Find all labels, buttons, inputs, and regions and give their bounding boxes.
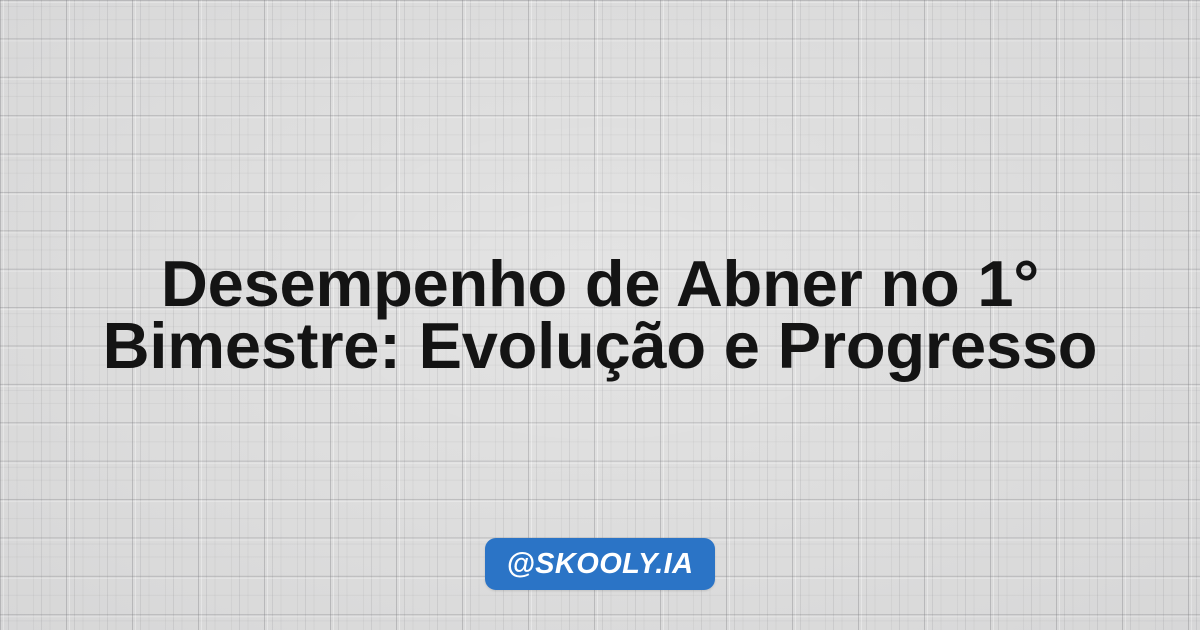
page-title: Desempenho de Abner no 1° Bimestre: Evol… xyxy=(0,253,1200,377)
social-cover-card: Desempenho de Abner no 1° Bimestre: Evol… xyxy=(0,0,1200,630)
handle-badge[interactable]: @SKOOLY.IA xyxy=(485,538,716,590)
badge-container: @SKOOLY.IA xyxy=(0,538,1200,590)
card-content: Desempenho de Abner no 1° Bimestre: Evol… xyxy=(0,253,1200,377)
